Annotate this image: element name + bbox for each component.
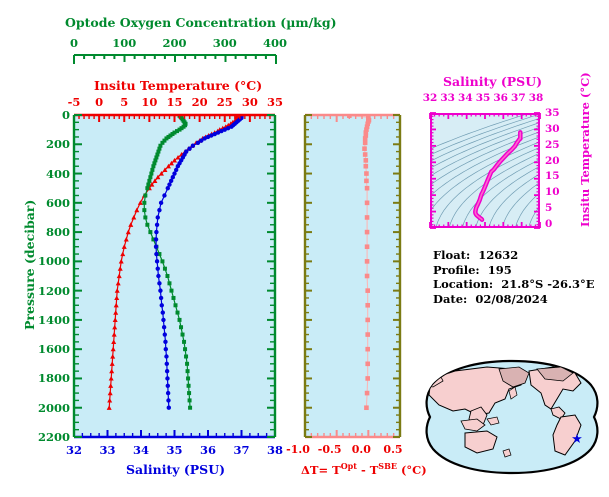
data-point bbox=[113, 317, 118, 322]
data-point bbox=[148, 230, 152, 234]
data-point bbox=[164, 347, 168, 351]
data-point bbox=[107, 398, 112, 403]
data-point bbox=[191, 144, 195, 148]
data-point bbox=[131, 215, 136, 220]
data-point bbox=[363, 141, 368, 146]
ts-temperature-tick-label: 30 bbox=[545, 123, 567, 135]
data-point bbox=[143, 194, 147, 198]
data-point bbox=[365, 362, 370, 367]
meta-float-row: Float: 12632 bbox=[433, 248, 595, 263]
ts-salinity-axis-title: Salinity (PSU) bbox=[443, 74, 542, 89]
data-point bbox=[365, 347, 370, 352]
data-point bbox=[176, 311, 180, 315]
data-point bbox=[167, 406, 171, 410]
meta-profile-value: 195 bbox=[488, 263, 512, 277]
data-point bbox=[151, 164, 155, 168]
data-point bbox=[161, 310, 165, 314]
vertical-profile-plot[interactable] bbox=[74, 115, 275, 437]
data-point bbox=[143, 215, 147, 219]
data-point bbox=[165, 274, 169, 278]
data-point bbox=[111, 347, 116, 352]
oxygen-axis-line bbox=[73, 53, 278, 67]
data-point bbox=[364, 158, 369, 163]
delta-temperature-trace bbox=[305, 115, 400, 437]
data-point bbox=[364, 179, 369, 184]
oxygen-tick-labels: 0100200300400 bbox=[74, 36, 275, 52]
data-point bbox=[167, 281, 171, 285]
temperature-tick-labels: -505101520253035 bbox=[74, 95, 275, 111]
data-point bbox=[163, 332, 167, 336]
data-point bbox=[364, 164, 369, 169]
meta-profile-label: Profile: bbox=[433, 263, 480, 277]
data-point bbox=[187, 391, 191, 395]
data-point bbox=[347, 115, 352, 118]
data-point bbox=[163, 340, 167, 344]
data-point bbox=[158, 288, 162, 292]
profile-metadata: Float: 12632 Profile: 195 Location: 21.8… bbox=[433, 248, 595, 306]
data-point bbox=[162, 193, 166, 197]
meta-date-value: 02/08/2024 bbox=[475, 292, 547, 306]
ts-temperature-tick-label: 5 bbox=[545, 202, 567, 214]
tick-label: 100 bbox=[102, 36, 146, 50]
data-point bbox=[365, 244, 370, 249]
pressure-tick-label: 2200 bbox=[18, 430, 70, 444]
data-point bbox=[184, 355, 188, 359]
data-point bbox=[162, 325, 166, 329]
meta-profile-row: Profile: 195 bbox=[433, 263, 595, 278]
data-point bbox=[188, 406, 192, 410]
data-point bbox=[154, 230, 158, 234]
ts-temperature-tick-labels: 05101520253035 bbox=[545, 107, 567, 235]
data-point bbox=[187, 146, 191, 150]
pressure-tick-label: 400 bbox=[18, 167, 70, 181]
data-point bbox=[166, 398, 170, 402]
data-point bbox=[154, 245, 158, 249]
meta-location-row: Location: 21.8°S -26.3°E bbox=[433, 277, 595, 292]
data-point bbox=[156, 274, 160, 278]
salinity-axis-title: Salinity (PSU) bbox=[126, 462, 225, 477]
data-point bbox=[365, 303, 370, 308]
data-point bbox=[156, 215, 160, 219]
data-point bbox=[112, 332, 117, 337]
deltaT-sup-opt: Opt bbox=[341, 461, 357, 471]
data-point bbox=[365, 259, 370, 264]
data-point bbox=[365, 230, 370, 235]
data-point bbox=[365, 391, 370, 396]
data-point bbox=[155, 223, 159, 227]
data-point bbox=[365, 201, 370, 206]
data-point bbox=[117, 274, 122, 279]
data-point bbox=[196, 141, 200, 145]
data-point bbox=[174, 303, 178, 307]
data-point bbox=[126, 230, 131, 235]
data-point bbox=[124, 237, 129, 242]
data-point bbox=[363, 136, 368, 141]
data-point bbox=[166, 186, 170, 190]
data-point bbox=[185, 362, 189, 366]
deltaT-mid: - T bbox=[357, 463, 378, 477]
data-point bbox=[120, 252, 125, 257]
data-point bbox=[365, 288, 370, 293]
ts-temperature-tick-label: 35 bbox=[545, 107, 567, 119]
data-point bbox=[364, 405, 369, 410]
data-point bbox=[365, 186, 370, 191]
data-point bbox=[145, 186, 149, 190]
salinity-tick-labels: 32333435363738 bbox=[74, 443, 275, 459]
data-point bbox=[110, 361, 115, 366]
meta-location-label: Location: bbox=[433, 277, 493, 291]
pressure-tick-label: 1800 bbox=[18, 371, 70, 385]
data-point bbox=[116, 281, 121, 286]
meta-location-value: 21.8°S -26.3°E bbox=[501, 277, 594, 291]
data-point bbox=[165, 369, 169, 373]
data-point bbox=[149, 172, 153, 176]
meta-date-row: Date: 02/08/2024 bbox=[433, 292, 595, 307]
data-point bbox=[118, 266, 123, 271]
data-point bbox=[154, 252, 158, 256]
data-point bbox=[148, 175, 152, 179]
data-point bbox=[159, 201, 163, 205]
data-point bbox=[108, 383, 113, 388]
profile-traces bbox=[74, 115, 275, 437]
tick-label: 400 bbox=[253, 36, 297, 50]
ts-temperature-tick-label: 20 bbox=[545, 155, 567, 167]
data-point bbox=[188, 398, 192, 402]
data-point bbox=[365, 215, 370, 220]
data-point bbox=[107, 405, 112, 410]
temperature-axis-title: Insitu Temperature (°C) bbox=[94, 78, 262, 93]
data-point bbox=[186, 369, 190, 373]
data-point bbox=[160, 303, 164, 307]
data-point bbox=[146, 183, 150, 187]
ts-temperature-tick-label: 25 bbox=[545, 139, 567, 151]
tick-label: 0.5 bbox=[371, 443, 415, 456]
pressure-tick-label: 200 bbox=[18, 137, 70, 151]
data-point bbox=[181, 333, 185, 337]
tick-label: 200 bbox=[153, 36, 197, 50]
data-point bbox=[147, 179, 151, 183]
meta-date-label: Date: bbox=[433, 292, 467, 306]
deltaT-sup-sbe: SBE bbox=[378, 461, 397, 471]
oxygen-axis-title: Optode Oxygen Concentration (µm/kg) bbox=[65, 15, 336, 30]
data-point bbox=[187, 384, 191, 388]
data-point bbox=[138, 200, 143, 205]
float-location-star-icon: ★ bbox=[571, 432, 583, 447]
data-point bbox=[109, 369, 114, 374]
pressure-tick-label: 1600 bbox=[18, 342, 70, 356]
data-point bbox=[155, 259, 159, 263]
temperature-salinity-diagram[interactable] bbox=[430, 113, 540, 228]
pressure-tick-label: 2000 bbox=[18, 401, 70, 415]
pressure-tick-label: 0 bbox=[18, 108, 70, 122]
data-point bbox=[178, 318, 182, 322]
data-point bbox=[186, 376, 190, 380]
pressure-axis-title: Pressure (decibar) bbox=[22, 200, 37, 330]
data-point bbox=[365, 274, 370, 279]
delta-temperature-plot[interactable] bbox=[305, 115, 400, 437]
data-point bbox=[165, 362, 169, 366]
ts-temperature-tick-label: 10 bbox=[545, 186, 567, 198]
data-point bbox=[183, 347, 187, 351]
data-point bbox=[108, 391, 113, 396]
data-point bbox=[156, 266, 160, 270]
ts-content bbox=[432, 115, 538, 226]
data-point bbox=[114, 295, 119, 300]
data-point bbox=[128, 222, 133, 227]
meta-float-label: Float: bbox=[433, 248, 470, 262]
meta-float-value: 12632 bbox=[478, 248, 518, 262]
data-point bbox=[169, 289, 173, 293]
tick-label: 0 bbox=[52, 36, 96, 50]
data-point bbox=[134, 208, 139, 213]
data-point bbox=[142, 201, 146, 205]
data-point bbox=[160, 259, 164, 263]
data-point bbox=[164, 354, 168, 358]
data-point bbox=[113, 310, 118, 315]
data-point bbox=[159, 296, 163, 300]
data-point bbox=[111, 339, 116, 344]
data-point bbox=[112, 325, 117, 330]
deltaT-post: (°C) bbox=[397, 463, 427, 477]
data-point bbox=[165, 376, 169, 380]
data-point bbox=[363, 152, 368, 157]
data-point bbox=[166, 391, 170, 395]
world-map[interactable]: ★ bbox=[425, 355, 600, 480]
data-point bbox=[150, 168, 154, 172]
tick-label: 300 bbox=[203, 36, 247, 50]
delta-temperature-tick-labels: -1.0-0.50.00.5 bbox=[298, 443, 408, 459]
data-point bbox=[365, 376, 370, 381]
data-point bbox=[115, 288, 120, 293]
tick-label: 38 bbox=[514, 92, 558, 104]
ts-temperature-tick-label: 0 bbox=[545, 218, 567, 230]
data-point bbox=[163, 267, 167, 271]
data-point bbox=[362, 146, 367, 151]
data-point bbox=[182, 340, 186, 344]
data-point bbox=[365, 332, 370, 337]
tick-label: 35 bbox=[253, 95, 297, 109]
data-point bbox=[122, 244, 127, 249]
deltaT-pre: ΔT= T bbox=[301, 463, 341, 477]
data-point bbox=[179, 325, 183, 329]
data-point bbox=[364, 171, 369, 176]
data-point bbox=[109, 376, 114, 381]
data-point bbox=[114, 303, 119, 308]
data-point bbox=[365, 318, 370, 323]
ts-temperature-tick-label: 15 bbox=[545, 170, 567, 182]
data-point bbox=[171, 296, 175, 300]
ts-salinity-tick-labels: 32333435363738 bbox=[430, 92, 540, 106]
data-point bbox=[157, 208, 161, 212]
data-point bbox=[119, 259, 124, 264]
data-point bbox=[157, 281, 161, 285]
data-point bbox=[110, 354, 115, 359]
data-point bbox=[166, 384, 170, 388]
data-point bbox=[154, 237, 158, 241]
data-point bbox=[145, 223, 149, 227]
data-point bbox=[161, 318, 165, 322]
delta-temperature-axis-title: ΔT= TOpt - TSBE (°C) bbox=[301, 461, 427, 477]
data-point bbox=[142, 208, 146, 212]
ts-temperature-axis-title: Insitu Temperature (°C) bbox=[578, 72, 592, 227]
